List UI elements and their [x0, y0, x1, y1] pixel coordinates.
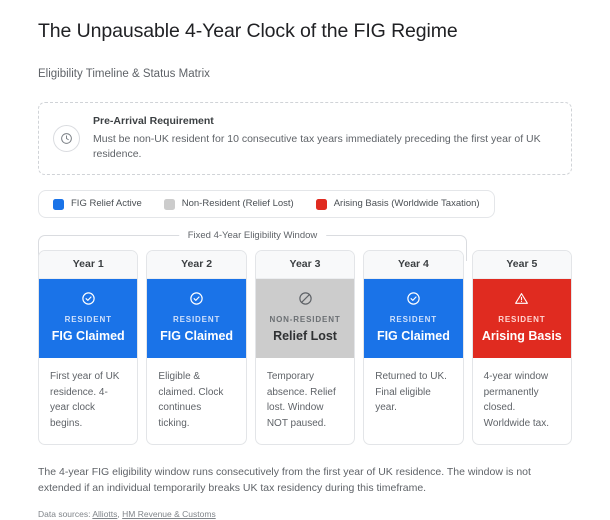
legend: FIG Relief Active Non-Resident (Relief L…	[38, 190, 495, 218]
data-sources: Data sources: Alliotts, HM Revenue & Cus…	[38, 508, 572, 520]
year-card[interactable]: Year 1 RESIDENT FIG Claimed First year o…	[38, 250, 138, 445]
check-circle-icon	[153, 290, 239, 307]
status-kicker: NON-RESIDENT	[262, 314, 348, 325]
pre-arrival-title: Pre-Arrival Requirement	[93, 114, 557, 128]
data-sources-prefix: Data sources:	[38, 509, 90, 519]
status-label: Relief Lost	[262, 325, 348, 345]
year-cards: Year 1 RESIDENT FIG Claimed First year o…	[38, 235, 572, 445]
year-card-note: Eligible & claimed. Clock continues tick…	[147, 358, 245, 444]
year-card-status: RESIDENT Arising Basis	[473, 279, 571, 358]
year-card-header: Year 3	[256, 251, 354, 279]
year-card-status: RESIDENT FIG Claimed	[147, 279, 245, 358]
year-card-status: RESIDENT FIG Claimed	[39, 279, 137, 358]
status-label: FIG Claimed	[45, 325, 131, 345]
pre-arrival-body: Must be non-UK resident for 10 consecuti…	[93, 128, 557, 162]
year-card-status: RESIDENT FIG Claimed	[364, 279, 462, 358]
year-card[interactable]: Year 5 RESIDENT Arising Basis 4-year win…	[472, 250, 572, 445]
legend-item-arising-basis: Arising Basis (Worldwide Taxation)	[316, 198, 480, 210]
status-kicker: RESIDENT	[479, 314, 565, 325]
pre-arrival-callout: Pre-Arrival Requirement Must be non-UK r…	[38, 102, 572, 175]
page-title: The Unpausable 4-Year Clock of the FIG R…	[38, 16, 572, 44]
year-card-header: Year 1	[39, 251, 137, 279]
year-card-note: Temporary absence. Relief lost. Window N…	[256, 358, 354, 444]
year-card[interactable]: Year 3 NON-RESIDENT Relief Lost Temporar…	[255, 250, 355, 445]
status-kicker: RESIDENT	[153, 314, 239, 325]
check-circle-icon	[370, 290, 456, 307]
year-card-status: NON-RESIDENT Relief Lost	[256, 279, 354, 358]
source-link-hmrc[interactable]: HM Revenue & Customs	[122, 509, 216, 519]
year-card-header: Year 5	[473, 251, 571, 279]
legend-label: Non-Resident (Relief Lost)	[182, 198, 294, 210]
status-label: FIG Claimed	[153, 325, 239, 345]
status-label: Arising Basis	[479, 325, 565, 345]
prohibited-icon	[262, 290, 348, 307]
year-card-note: First year of UK residence. 4-year clock…	[39, 358, 137, 444]
year-card-note: 4-year window permanently closed. Worldw…	[473, 358, 571, 444]
legend-swatch-red	[316, 199, 327, 210]
status-label: FIG Claimed	[370, 325, 456, 345]
year-card[interactable]: Year 4 RESIDENT FIG Claimed Returned to …	[363, 250, 463, 445]
legend-item-fig-relief-active: FIG Relief Active	[53, 198, 142, 210]
legend-swatch-gray	[164, 199, 175, 210]
page-root: The Unpausable 4-Year Clock of the FIG R…	[0, 0, 610, 490]
year-card-header: Year 4	[364, 251, 462, 279]
source-separator: ,	[117, 509, 119, 519]
legend-label: FIG Relief Active	[71, 198, 142, 210]
clock-icon	[53, 125, 80, 152]
check-circle-icon	[45, 290, 131, 307]
warning-triangle-icon	[479, 290, 565, 307]
year-card[interactable]: Year 2 RESIDENT FIG Claimed Eligible & c…	[146, 250, 246, 445]
source-link-alliotts[interactable]: Alliotts	[92, 509, 117, 519]
status-kicker: RESIDENT	[370, 314, 456, 325]
legend-swatch-blue	[53, 199, 64, 210]
page-subtitle: Eligibility Timeline & Status Matrix	[38, 44, 572, 82]
status-kicker: RESIDENT	[45, 314, 131, 325]
timeline: Fixed 4-Year Eligibility Window Year 1 R…	[38, 235, 572, 445]
legend-item-non-resident: Non-Resident (Relief Lost)	[164, 198, 294, 210]
legend-label: Arising Basis (Worldwide Taxation)	[334, 198, 480, 210]
year-card-header: Year 2	[147, 251, 245, 279]
footer-note: The 4-year FIG eligibility window runs c…	[38, 464, 560, 496]
pre-arrival-text: Pre-Arrival Requirement Must be non-UK r…	[93, 114, 557, 162]
year-card-note: Returned to UK. Final eligible year.	[364, 358, 462, 444]
